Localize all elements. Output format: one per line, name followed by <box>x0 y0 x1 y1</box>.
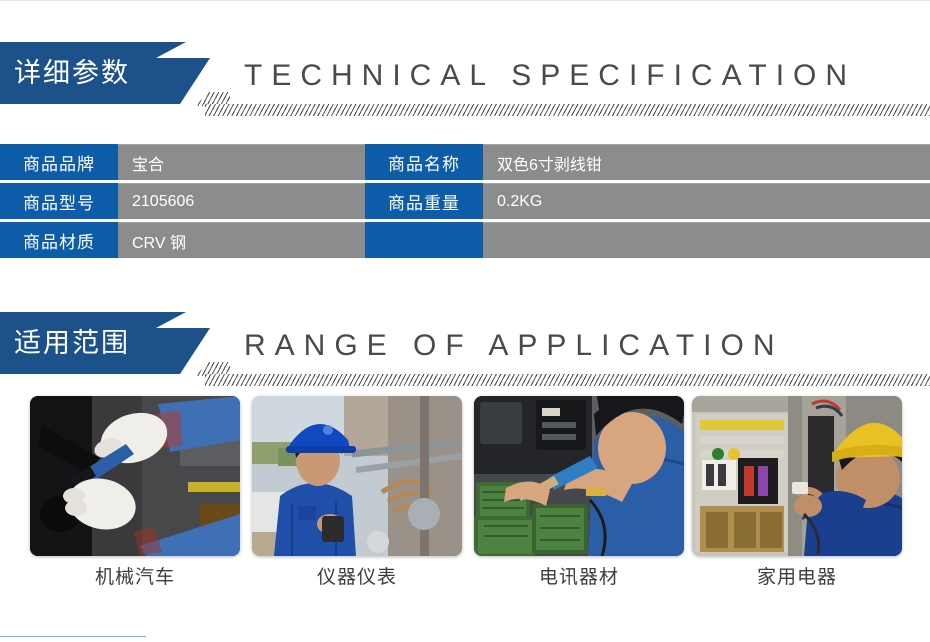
product-detail-page: 详细参数 TECHNICAL SPECIFICATION 商品品牌 宝合 商品名… <box>0 0 930 642</box>
caption-mechanical-automotive: 机械汽车 <box>30 562 240 589</box>
cell-label-weight: 商品重量 <box>365 183 483 219</box>
hatch-band-specification <box>205 104 930 116</box>
banner-label-specification: 详细参数 <box>14 54 130 92</box>
cell-value-weight: 0.2KG <box>483 183 930 219</box>
home-appliances-photo[interactable] <box>692 396 902 556</box>
application-photo-row <box>0 396 930 561</box>
cell-value-material: CRV 钢 <box>118 222 365 258</box>
caption-home-appliances: 家用电器 <box>692 562 902 589</box>
top-divider <box>0 0 930 1</box>
table-row: 商品材质 CRV 钢 <box>0 222 930 258</box>
english-title-application: RANGE OF APPLICATION <box>244 326 784 366</box>
instruments-meters-photo[interactable] <box>252 396 462 556</box>
bottom-divider <box>0 636 146 637</box>
cell-value-empty <box>483 222 930 258</box>
cell-label-product-name: 商品名称 <box>365 144 483 180</box>
cell-value-model: 2105606 <box>118 183 365 219</box>
table-row: 商品品牌 宝合 商品名称 双色6寸剥线钳 <box>0 144 930 180</box>
banner-label-application: 适用范围 <box>14 324 130 362</box>
mechanical-automotive-photo[interactable] <box>30 396 240 556</box>
table-row: 商品型号 2105606 商品重量 0.2KG <box>0 183 930 219</box>
caption-telecom-equipment: 电讯器材 <box>474 562 684 589</box>
cell-label-empty <box>365 222 483 258</box>
cell-label-material: 商品材质 <box>0 222 118 258</box>
hatch-band-application <box>205 374 930 386</box>
application-captions: 机械汽车 仪器仪表 电讯器材 家用电器 <box>0 562 930 602</box>
cell-label-model: 商品型号 <box>0 183 118 219</box>
telecom-equipment-photo[interactable] <box>474 396 684 556</box>
cell-value-product-name: 双色6寸剥线钳 <box>483 144 930 180</box>
cell-label-brand: 商品品牌 <box>0 144 118 180</box>
caption-instruments-meters: 仪器仪表 <box>252 562 462 589</box>
cell-value-brand: 宝合 <box>118 144 365 180</box>
section-header-application: 适用范围 RANGE OF APPLICATION <box>0 312 930 390</box>
english-title-specification: TECHNICAL SPECIFICATION <box>244 56 856 96</box>
section-header-specification: 详细参数 TECHNICAL SPECIFICATION <box>0 42 930 120</box>
specification-table: 商品品牌 宝合 商品名称 双色6寸剥线钳 商品型号 2105606 商品重量 0… <box>0 144 930 262</box>
